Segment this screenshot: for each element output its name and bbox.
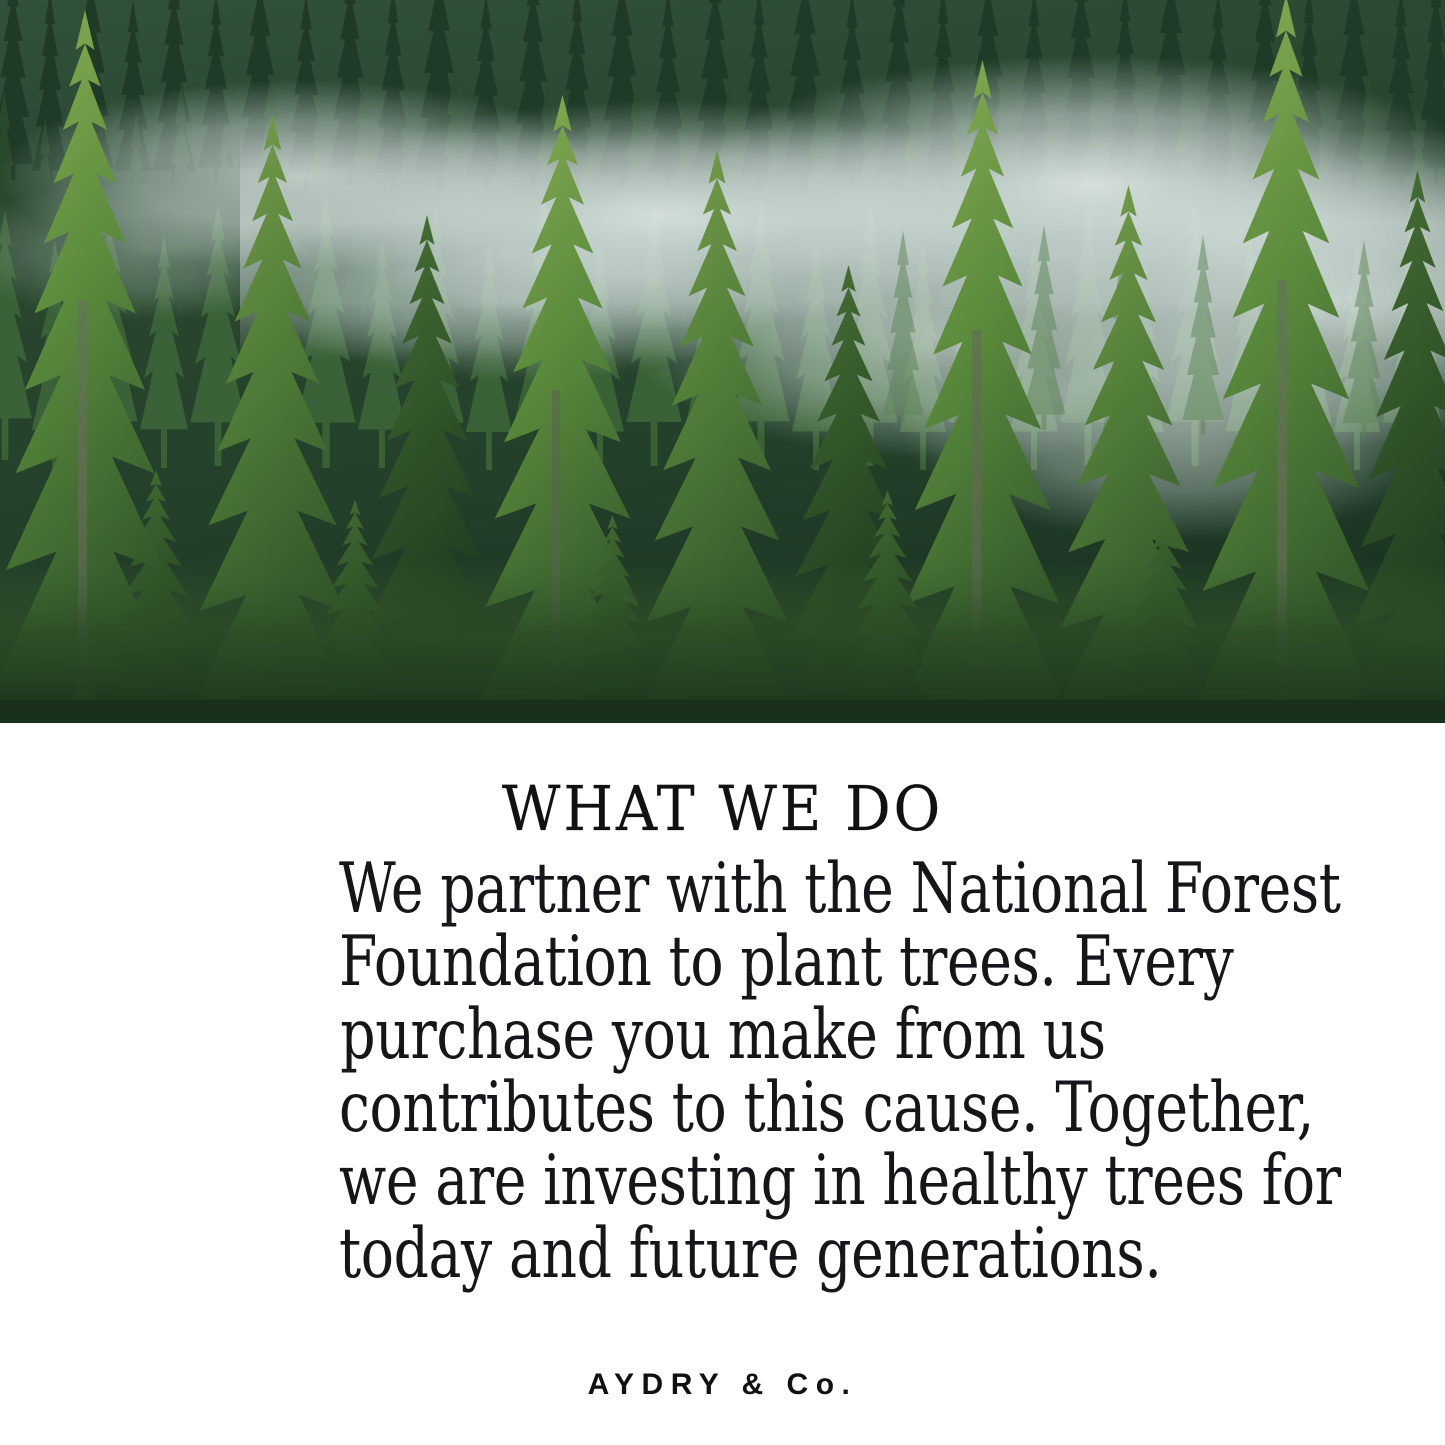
promo-card: WHAT WE DO We partner with the National …: [0, 0, 1445, 1445]
page-title: WHAT WE DO: [58, 778, 1387, 840]
body-line: purchase you make from us: [339, 999, 1107, 1072]
body-line: Foundation to plant trees. Every: [339, 926, 1107, 999]
body-paragraph: We partner with the National Forest Foun…: [243, 853, 1203, 1291]
brand-logo: AYDRY & Co.: [0, 1368, 1445, 1402]
forest-photo: [0, 0, 1445, 723]
body-line: we are investing in healthy trees for: [339, 1145, 1107, 1218]
body-line: contributes to this cause. Together,: [339, 1072, 1107, 1145]
body-line: today and future generations.: [339, 1218, 1107, 1291]
content-panel: WHAT WE DO We partner with the National …: [0, 723, 1445, 1445]
body-line: We partner with the National Forest: [339, 853, 1107, 926]
